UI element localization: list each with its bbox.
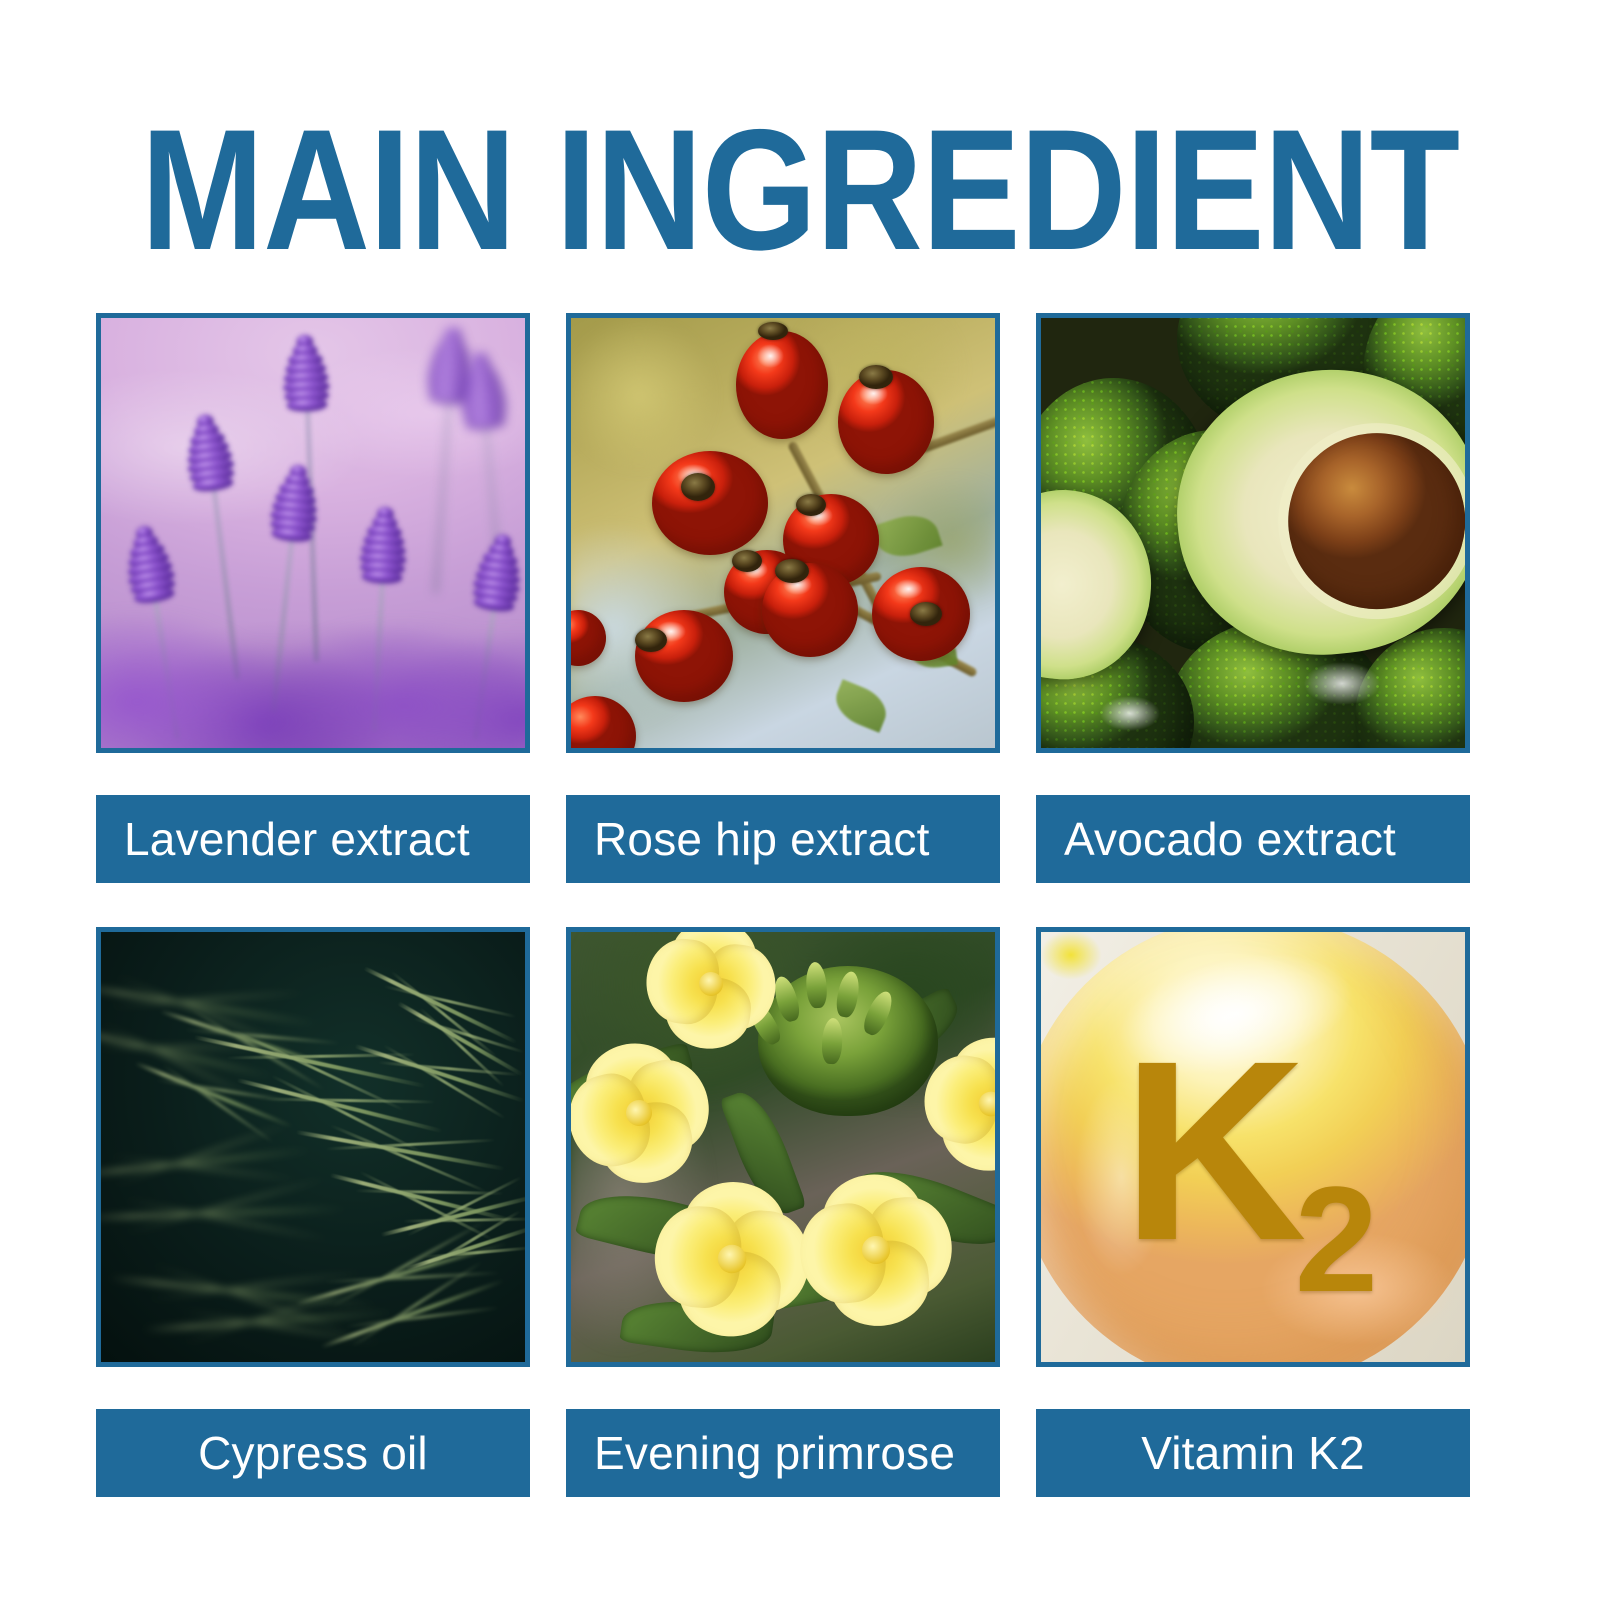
ingredient-card-evening-primrose[interactable]: Evening primrose <box>566 927 1000 1497</box>
ingredient-infographic: MAIN INGREDIENT <box>0 0 1600 1600</box>
ingredient-grid: Lavender extract <box>96 313 1502 1497</box>
halved-avocado-photo <box>1036 313 1470 753</box>
ingredient-label: Evening primrose <box>566 1409 1000 1497</box>
ingredient-card-vitamin-k2[interactable]: K2 Vitamin K2 <box>1036 927 1470 1497</box>
vitamin-k2-letter: K <box>1122 1031 1301 1271</box>
evening-primrose-flowers-photo <box>566 927 1000 1367</box>
ingredient-card-avocado[interactable]: Avocado extract <box>1036 313 1470 883</box>
cypress-foliage-photo <box>96 927 530 1367</box>
ingredient-label: Lavender extract <box>96 795 530 883</box>
vitamin-k2-capsule-photo: K2 <box>1036 927 1470 1367</box>
lavender-field-photo <box>96 313 530 753</box>
rose-hip-berries-photo <box>566 313 1000 753</box>
vitamin-k2-badge: K2 <box>1122 1031 1378 1271</box>
ingredient-card-cypress[interactable]: Cypress oil <box>96 927 530 1497</box>
page-title: MAIN INGREDIENT <box>112 104 1488 276</box>
vitamin-k2-subscript: 2 <box>1295 1164 1378 1314</box>
ingredient-label: Cypress oil <box>96 1409 530 1497</box>
ingredient-card-rose-hip[interactable]: Rose hip extract <box>566 313 1000 883</box>
ingredient-label: Rose hip extract <box>566 795 1000 883</box>
ingredient-label: Vitamin K2 <box>1036 1409 1470 1497</box>
ingredient-label: Avocado extract <box>1036 795 1470 883</box>
ingredient-card-lavender[interactable]: Lavender extract <box>96 313 530 883</box>
